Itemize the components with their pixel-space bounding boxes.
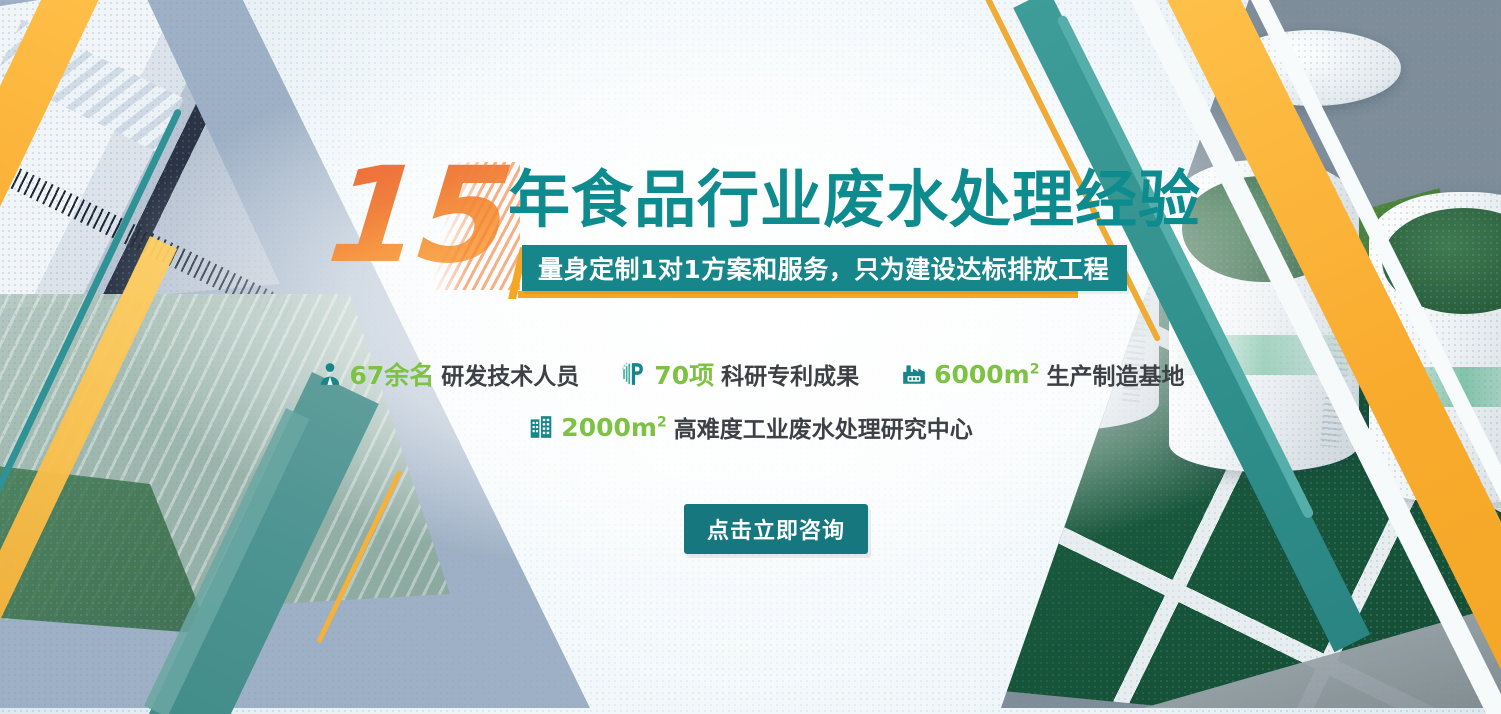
stat-label: 生产制造基地	[1046, 357, 1184, 391]
building-icon	[528, 414, 554, 440]
stats-section: 67余名 研发技术人员 70项 科研专利成果	[0, 356, 1501, 444]
stat-item-staff: 67余名 研发技术人员	[317, 356, 580, 392]
subtitle-text: 量身定制1对1方案和服务，只为建设达标排放工程	[538, 250, 1109, 286]
title-block: 年食品行业废水处理经验 量身定制1对1方案和服务，只为建设达标排放工程	[508, 168, 1201, 293]
page-title: 年食品行业废水处理经验	[508, 168, 1201, 231]
stat-number-value: 6000m	[934, 360, 1030, 389]
stat-number-superscript: 2	[1030, 361, 1040, 377]
patent-icon	[621, 361, 647, 387]
stats-row-2: 2000m2 高难度工业废水处理研究中心	[0, 410, 1501, 444]
subtitle-accent-bottom	[518, 291, 1078, 298]
years-number: 15	[324, 156, 522, 277]
banner-content: 15 年食品行业废水处理经验 量身定制1对1方案和服务，只为建设达标排放工程	[0, 0, 1501, 714]
stat-label: 科研专利成果	[721, 357, 859, 391]
person-icon	[317, 361, 343, 387]
stat-item-factory: 6000m2 生产制造基地	[901, 357, 1184, 391]
stats-row-1: 67余名 研发技术人员 70项 科研专利成果	[0, 356, 1501, 392]
stat-number-value: 2000m	[561, 413, 657, 442]
stat-number-superscript: 2	[657, 414, 667, 430]
stat-number: 70项	[654, 356, 714, 392]
stat-item-research-center: 2000m2 高难度工业废水处理研究中心	[528, 410, 972, 444]
hero-banner: 15 年食品行业废水处理经验 量身定制1对1方案和服务，只为建设达标排放工程	[0, 0, 1501, 714]
stat-number: 2000m2	[561, 413, 666, 442]
consult-now-button-label: 点击立即咨询	[707, 513, 845, 545]
stat-item-patents: 70项 科研专利成果	[621, 356, 859, 392]
factory-icon	[901, 361, 927, 387]
stat-number: 6000m2	[934, 360, 1039, 389]
consult-now-button[interactable]: 点击立即咨询	[684, 504, 868, 554]
stat-label: 高难度工业废水处理研究中心	[674, 410, 973, 444]
stat-number: 67余名	[350, 356, 435, 392]
headline-number-row: 15	[330, 156, 516, 277]
stat-label: 研发技术人员	[441, 357, 579, 391]
subtitle-wrap: 量身定制1对1方案和服务，只为建设达标排放工程	[508, 245, 1201, 293]
subtitle-bar: 量身定制1对1方案和服务，只为建设达标排放工程	[522, 245, 1127, 291]
